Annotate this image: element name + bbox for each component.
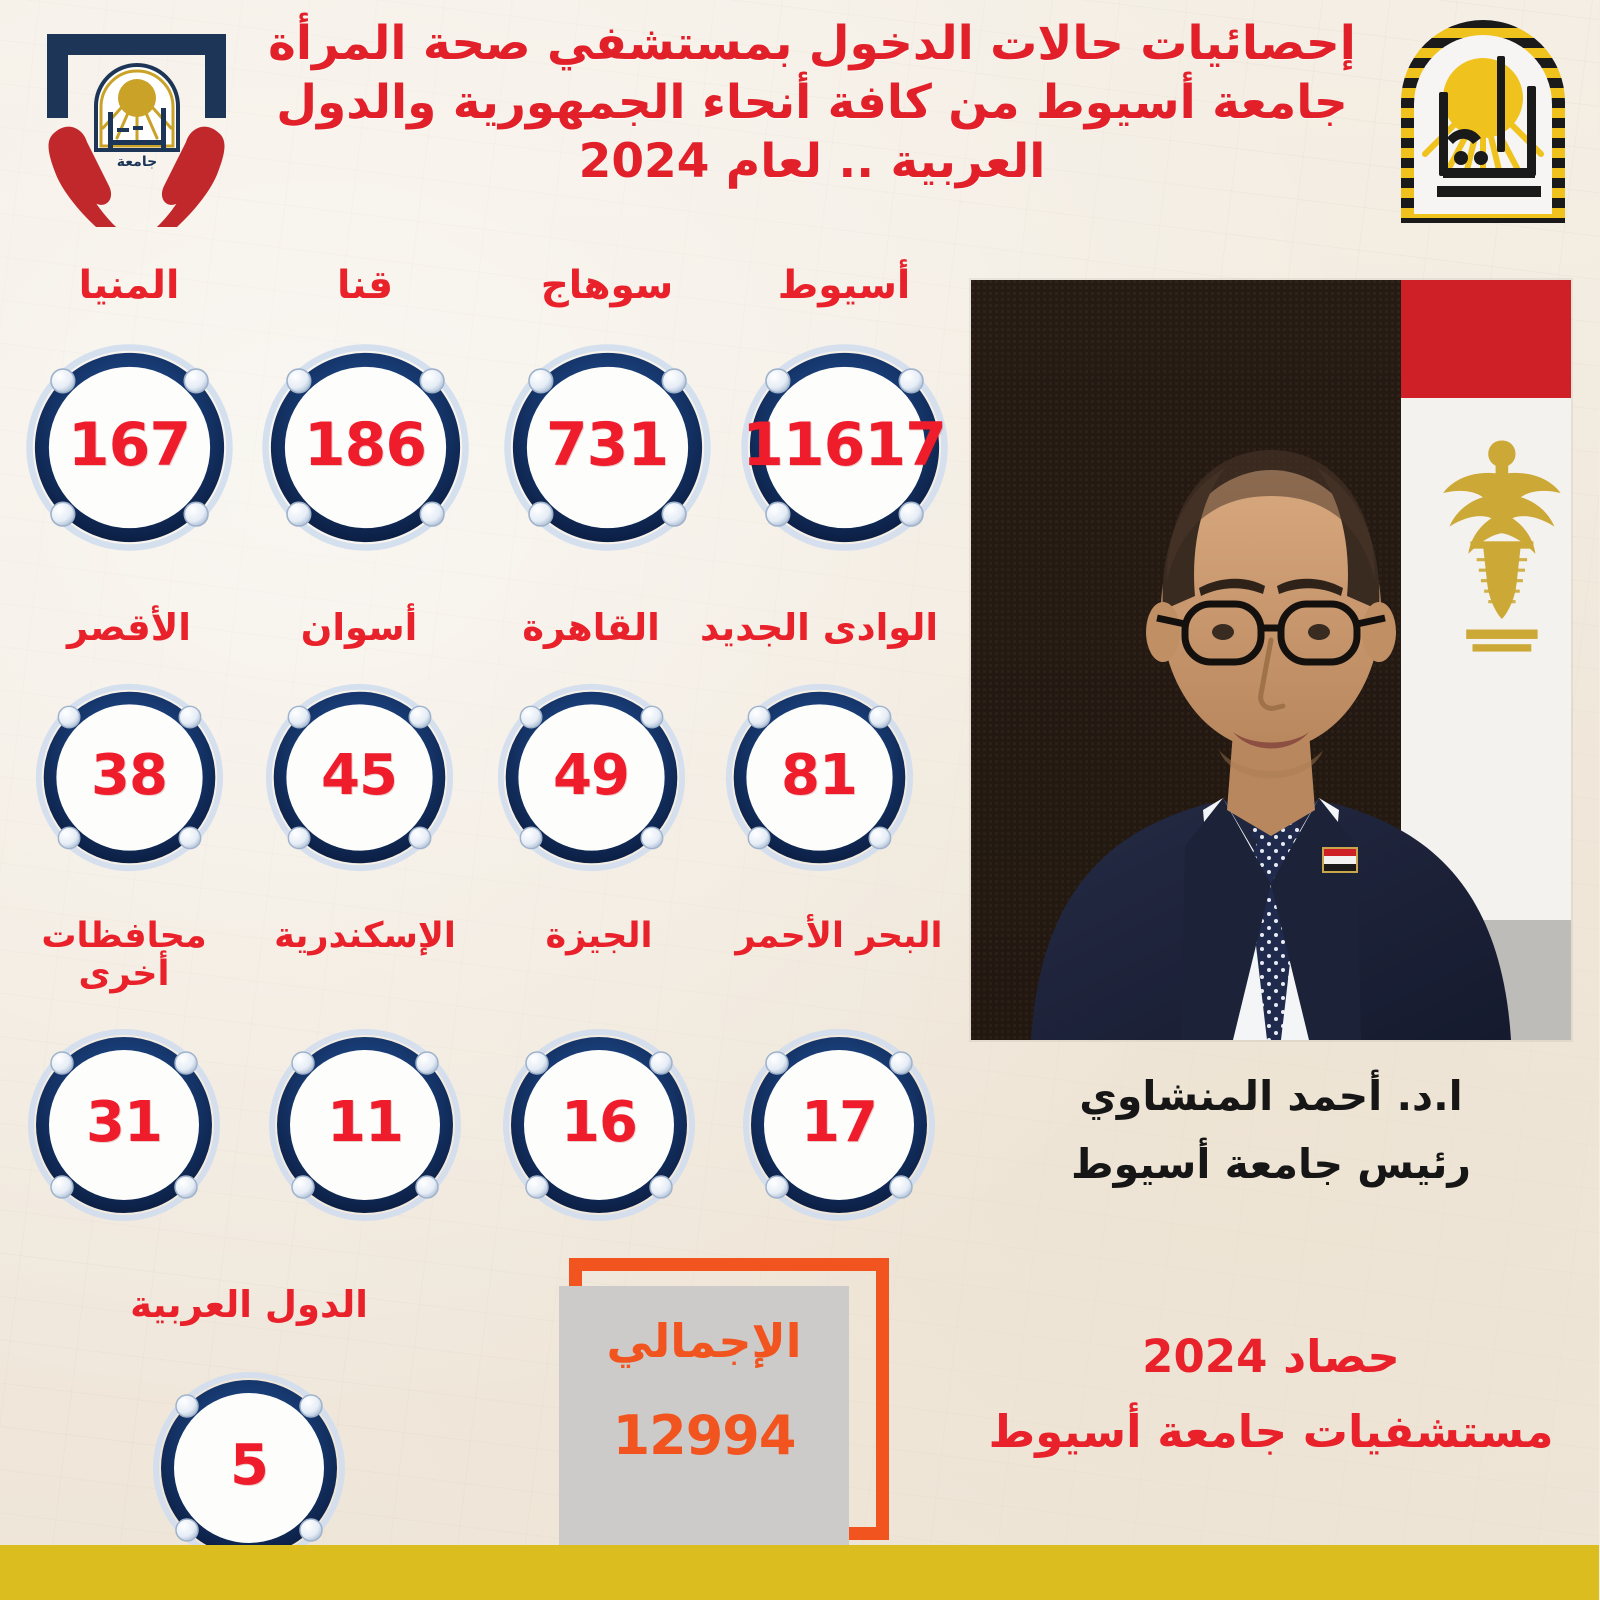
university-president-portrait [972, 280, 1572, 1040]
svg-text:جامعة: جامعة [118, 154, 158, 170]
total-box: الإجمالي 12994 [560, 1258, 890, 1548]
page-title: إحصائيات حالات الدخول بمستشفي صحة المرأة… [268, 14, 1358, 192]
badge-value: 38 [33, 743, 228, 808]
stat-badge: أسوان45 [263, 680, 458, 875]
total-value: 12994 [560, 1404, 850, 1467]
stat-badge: أسيوط11617 [738, 340, 953, 555]
badge-value: 81 [723, 743, 918, 808]
footer-bar [0, 1545, 1600, 1600]
badge-value: 186 [259, 410, 474, 480]
total-label: الإجمالي [560, 1314, 850, 1368]
stat-badge: قنا186 [259, 340, 474, 555]
badge-value: 167 [23, 410, 238, 480]
badge-value: 45 [263, 743, 458, 808]
badge-label: المنيا [0, 265, 278, 307]
header: جامعة إحصائيات حالات الدخول بمستشفي صحة … [0, 0, 1600, 262]
badge-value: 11617 [738, 410, 953, 480]
stat-badge: البحر الأحمر17 [740, 1025, 940, 1225]
stat-badge: الوادى الجديد81 [723, 680, 918, 875]
stat-badge: المنيا167 [23, 340, 238, 555]
badge-value: 5 [150, 1433, 350, 1498]
badge-value: 731 [501, 410, 716, 480]
badge-label: الأقصر [0, 608, 268, 648]
badge-label: الدول العربية [110, 1285, 390, 1325]
badge-value: 17 [740, 1090, 940, 1155]
stat-badge: الجيزة16 [500, 1025, 700, 1225]
stat-badge: الدول العربية5 [150, 1368, 350, 1568]
harvest-year: حصاد 2024 [972, 1330, 1572, 1383]
assiut-university-emblem [1382, 18, 1587, 233]
badge-value: 16 [500, 1090, 700, 1155]
badge-label: البحر الأحمر [700, 918, 980, 956]
stat-badge: القاهرة49 [495, 680, 690, 875]
person-role: رئيس جامعة أسيوط [972, 1140, 1572, 1188]
assiut-university-hospitals-logo: جامعة [30, 22, 245, 227]
badge-value: 49 [495, 743, 690, 808]
badge-label: الإسكندرية [226, 918, 506, 956]
badge-value: 31 [25, 1090, 225, 1155]
stat-badge: الأقصر38 [33, 680, 228, 875]
badge-value: 11 [266, 1090, 466, 1155]
stat-badge: محافظات أخرى31 [25, 1025, 225, 1225]
stat-badge: سوهاج731 [501, 340, 716, 555]
badge-label: محافظات أخرى [0, 918, 265, 994]
harvest-subtitle: مستشفيات جامعة أسيوط [972, 1405, 1572, 1458]
stat-badge: الإسكندرية11 [266, 1025, 466, 1225]
person-name: ا.د. أحمد المنشاوي [972, 1072, 1572, 1120]
